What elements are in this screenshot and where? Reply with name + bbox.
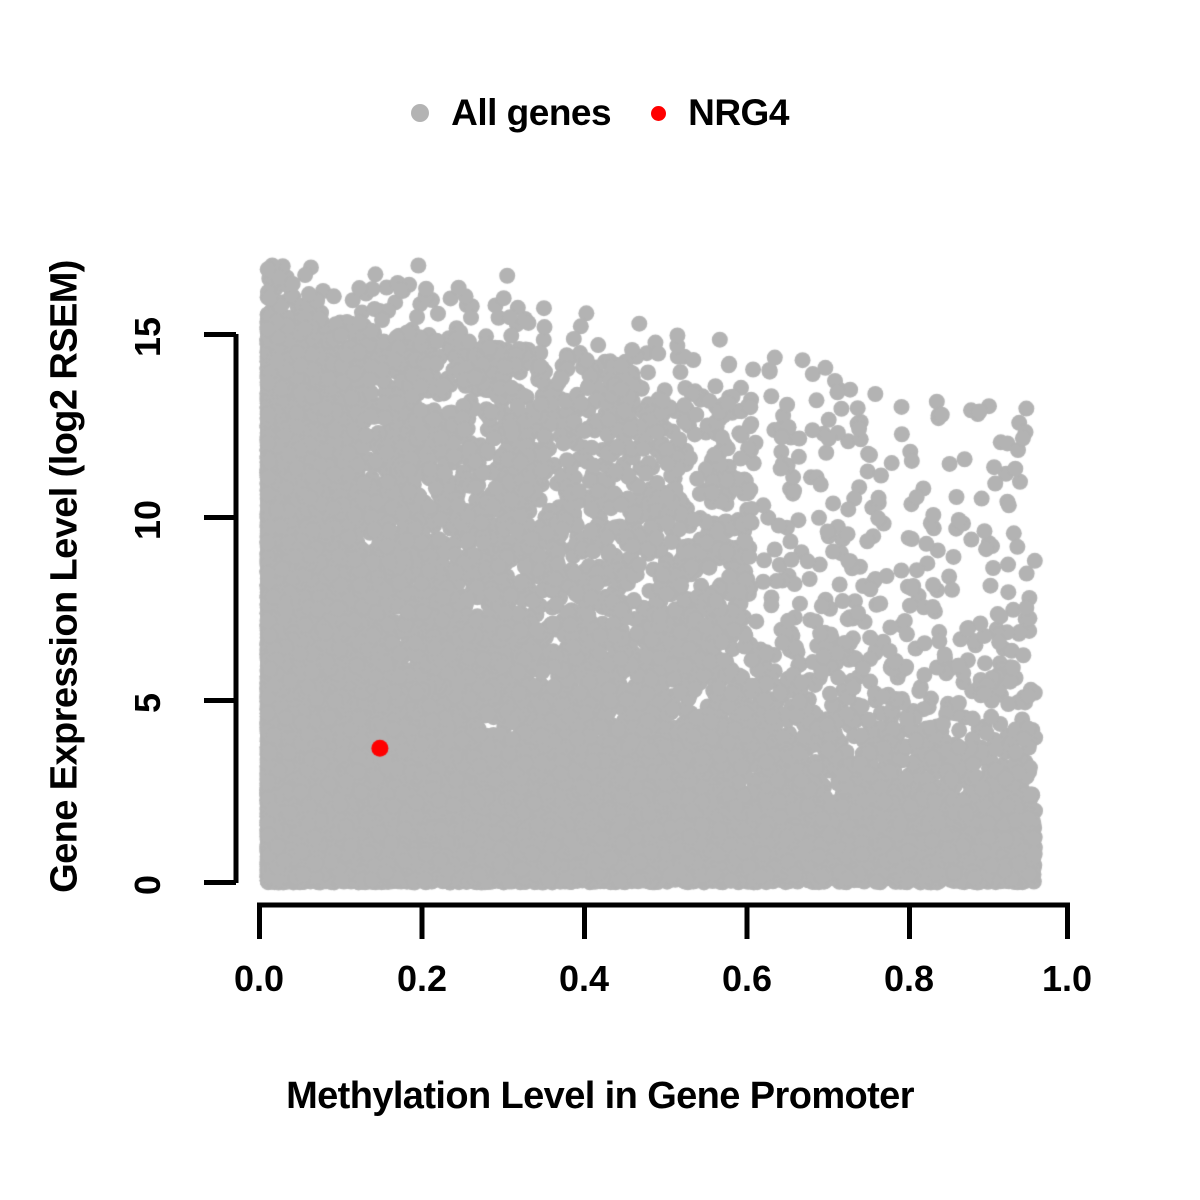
y-tick-label-15: 15 bbox=[127, 307, 169, 367]
scatter-plot-figure: All genes NRG4 15 10 5 0 0.0 0.2 0.4 0.6… bbox=[0, 0, 1200, 1200]
x-tick-label-0.0: 0.0 bbox=[214, 958, 304, 1000]
x-tick-label-0.8: 0.8 bbox=[864, 958, 954, 1000]
x-tick-label-0.6: 0.6 bbox=[702, 958, 792, 1000]
y-tick-label-10: 10 bbox=[127, 490, 169, 550]
y-tick-label-5: 5 bbox=[127, 683, 169, 723]
scatter-points-canvas bbox=[0, 0, 1200, 1200]
y-tick-label-0: 0 bbox=[127, 865, 169, 905]
x-axis-title: Methylation Level in Gene Promoter bbox=[0, 1075, 1200, 1118]
x-tick-label-0.4: 0.4 bbox=[539, 958, 629, 1000]
x-tick-label-0.2: 0.2 bbox=[377, 958, 467, 1000]
x-tick-label-1.0: 1.0 bbox=[1022, 958, 1112, 1000]
y-axis-title: Gene Expression Level (log2 RSEM) bbox=[44, 157, 87, 997]
